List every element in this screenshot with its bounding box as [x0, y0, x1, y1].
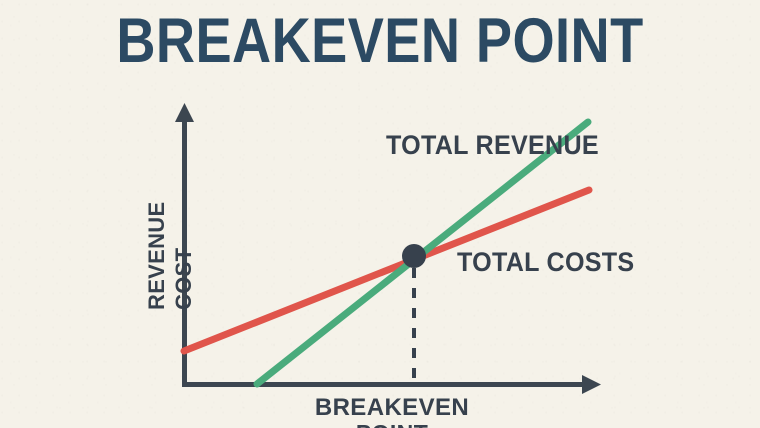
breakeven-chart-canvas: BREAKEVEN POINT TOTAL REVENUE TOTAL COST… — [0, 0, 760, 428]
chart-graphic — [0, 0, 760, 428]
breakeven-point-marker — [402, 244, 426, 268]
y-axis-label: REVENUE COST — [121, 182, 175, 310]
x-axis — [182, 375, 601, 394]
total-costs-label: TOTAL COSTS — [457, 247, 634, 278]
y-axis-label-cost: COST — [172, 182, 300, 310]
x-axis-label-breakeven: BREAKEVEN — [184, 394, 600, 422]
x-axis-label-breakeven-sub: POINT — [184, 420, 600, 428]
y-axis-arrow-icon — [175, 103, 194, 122]
total-revenue-label: TOTAL REVENUE — [386, 130, 599, 161]
x-axis-arrow-icon — [582, 375, 601, 394]
